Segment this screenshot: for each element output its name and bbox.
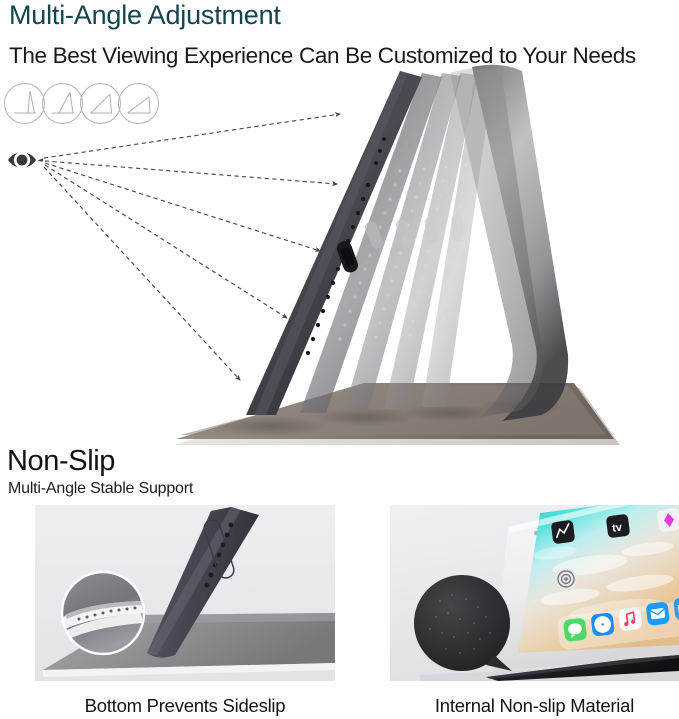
photos-icon xyxy=(657,508,679,533)
nonslip-title: Non-Slip xyxy=(7,444,115,478)
angle-preset-2-icon xyxy=(41,82,84,125)
angle-preset-3-icon xyxy=(79,82,122,125)
nonslip-subtitle: Multi-Angle Stable Support xyxy=(8,479,193,499)
page-title: Multi-Angle Adjustment xyxy=(9,0,281,32)
apple-tv-icon: tv xyxy=(606,514,631,539)
panel-bottom-prevents-sideslip xyxy=(35,505,335,681)
caption-internal-nonslip-material: Internal Non-slip Material xyxy=(390,694,679,718)
magnified-groove-callout xyxy=(61,571,145,655)
stocks-icon xyxy=(551,520,576,545)
tablet-stand-multi-angle-photo xyxy=(150,55,679,455)
ipad-screen: tv xyxy=(518,505,679,653)
eye-icon xyxy=(6,145,48,175)
stand-angle-preset-row xyxy=(3,82,155,126)
settings-icon xyxy=(555,568,577,590)
angle-preset-1-icon xyxy=(3,82,46,125)
product-feature-page: Multi-Angle Adjustment The Best Viewing … xyxy=(0,0,679,719)
caption-bottom-prevents-sideslip: Bottom Prevents Sideslip xyxy=(35,694,335,718)
panel-internal-nonslip-material: tv xyxy=(390,505,679,681)
music-icon xyxy=(618,607,643,632)
ipad-device: tv xyxy=(494,505,679,671)
